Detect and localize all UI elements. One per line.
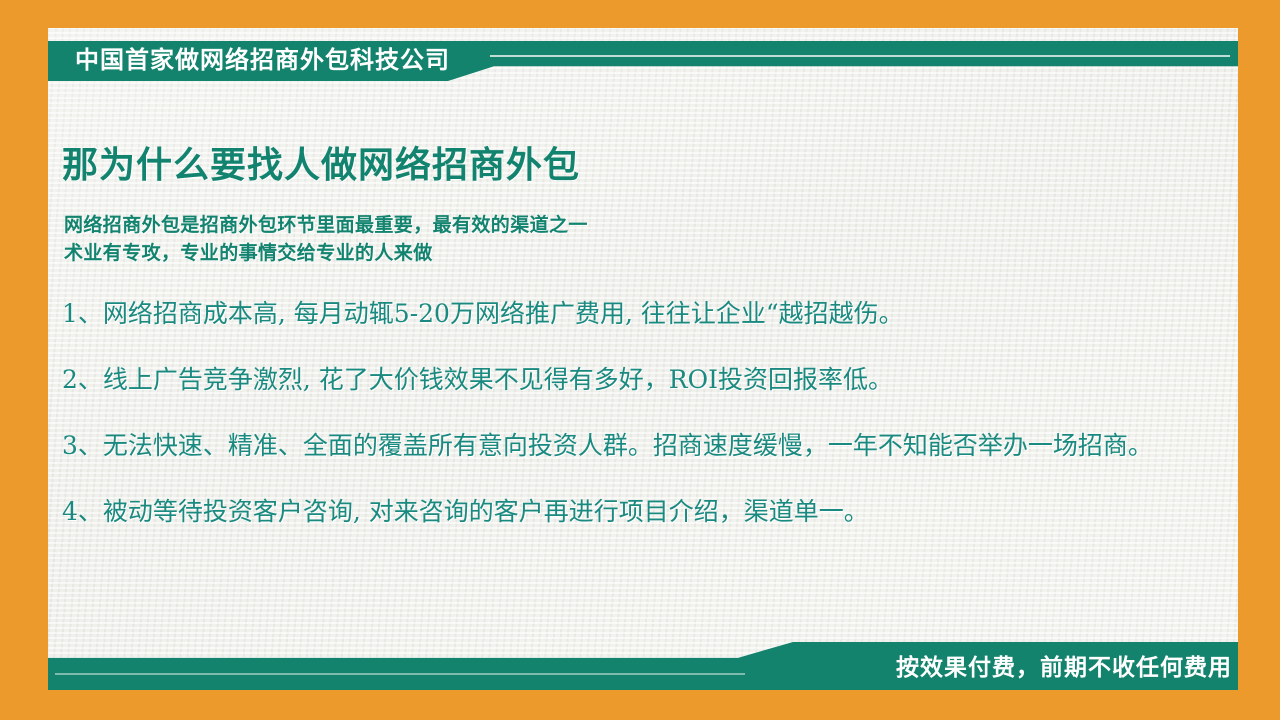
subtitle-block: 网络招商外包是招商外包环节里面最重要，最有效的渠道之一 术业有专攻，专业的事情交… — [64, 212, 588, 268]
list-item: 2、线上广告竞争激烈, 花了大价钱效果不见得有多好，ROI投资回报率低。 — [62, 361, 1192, 399]
reasons-list: 1、网络招商成本高, 每月动辄5-20万网络推广费用, 往往让企业“越招越伤。 … — [62, 295, 1192, 531]
list-item: 3、无法快速、精准、全面的覆盖所有意向投资人群。招商速度缓慢，一年不知能否举办一… — [62, 427, 1192, 465]
page-title: 那为什么要找人做网络招商外包 — [62, 136, 580, 188]
footer-tagline: 按效果付费，前期不收任何费用 — [896, 648, 1232, 682]
footer-divider-line — [55, 673, 745, 675]
list-item: 4、被动等待投资客户咨询, 对来咨询的客户再进行项目介绍，渠道单一。 — [62, 493, 1192, 531]
subtitle-line-2: 术业有专攻，专业的事情交给专业的人来做 — [64, 240, 588, 268]
slide-canvas: 中国首家做网络招商外包科技公司 那为什么要找人做网络招商外包 网络招商外包是招商… — [0, 0, 1280, 720]
subtitle-line-1: 网络招商外包是招商外包环节里面最重要，最有效的渠道之一 — [64, 212, 588, 240]
list-item: 1、网络招商成本高, 每月动辄5-20万网络推广费用, 往往让企业“越招越伤。 — [62, 295, 1192, 333]
header-badge-text: 中国首家做网络招商外包科技公司 — [75, 45, 450, 77]
header-divider-line — [490, 55, 1230, 57]
